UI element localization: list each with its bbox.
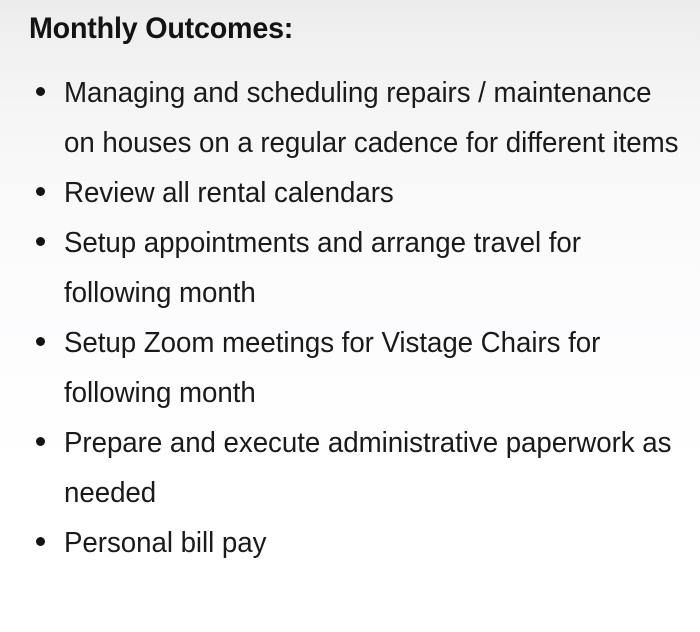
list-item-label: Review all rental calendars (64, 168, 682, 218)
list-item: Prepare and execute administrative paper… (0, 418, 700, 518)
list-item: Review all rental calendars (0, 168, 700, 218)
list-item: Setup Zoom meetings for Vistage Chairs f… (0, 318, 700, 418)
monthly-outcomes-list: Managing and scheduling repairs / mainte… (0, 68, 700, 568)
list-item: Setup appointments and arrange travel fo… (0, 218, 700, 318)
bullet-icon (36, 337, 45, 346)
list-item-label: Setup Zoom meetings for Vistage Chairs f… (64, 318, 682, 418)
bullet-icon (36, 537, 45, 546)
list-item-label: Setup appointments and arrange travel fo… (64, 218, 682, 318)
list-item: Managing and scheduling repairs / mainte… (0, 68, 700, 168)
slide-canvas: Monthly Outcomes: Managing and schedulin… (0, 0, 700, 632)
bullet-icon (36, 237, 45, 246)
bullet-icon (36, 437, 45, 446)
bullet-icon (36, 87, 45, 96)
list-item: Personal bill pay (0, 518, 700, 568)
list-item-label: Personal bill pay (64, 518, 682, 568)
list-item-label: Managing and scheduling repairs / mainte… (64, 68, 682, 168)
list-item-label: Prepare and execute administrative paper… (64, 418, 682, 518)
bullet-icon (36, 187, 45, 196)
page-title: Monthly Outcomes: (29, 9, 293, 49)
